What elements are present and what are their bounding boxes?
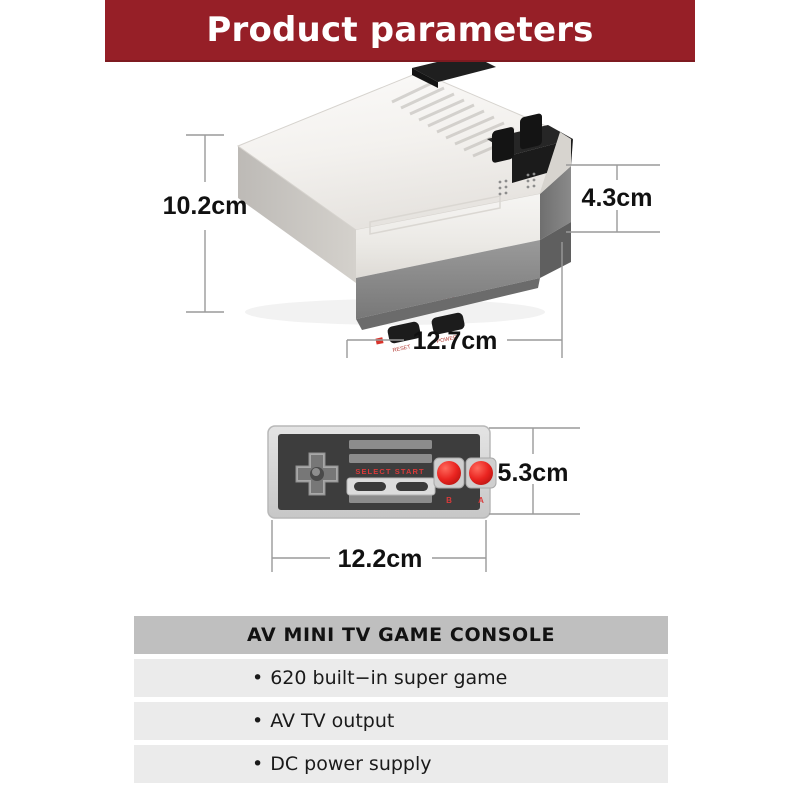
controller-select-button[interactable] [354,482,386,491]
bullet-icon-2: • [252,710,263,732]
spec-table-header-label: AV MINI TV GAME CONSOLE [247,624,555,646]
spec-row-3-text: •DC power supply [134,753,432,775]
dimension-console-height-label: 10.2cm [163,192,248,220]
console-illustration: ENTERTAINMENT SYSTEM RESET POWER [238,62,573,354]
spec-row-1-text: •620 built−in super game [134,667,507,689]
controller-start-button[interactable] [396,482,428,491]
page-header-banner: Product parameters [105,0,695,60]
console-reset-label: RESET [392,344,412,354]
dimension-controller-height-label: 5.3cm [498,459,569,487]
console-power-led [375,337,383,344]
controller-select-start-label: SELECT START [355,467,424,476]
controller-illustration: SELECT START [268,426,496,518]
spec-table-header-row: AV MINI TV GAME CONSOLE [134,616,668,654]
spec-row-3-value: DC power supply [270,753,431,775]
console-port-2 [520,113,542,150]
spec-row-1-value: 620 built−in super game [270,667,507,689]
controller-action-buttons[interactable] [434,458,464,488]
console-port-1 [492,126,514,163]
spec-row-1: •620 built−in super game [134,659,668,697]
button-b[interactable] [437,461,461,485]
product-diagram-svg: ENTERTAINMENT SYSTEM RESET POWER [0,62,800,592]
spec-row-2-text: •AV TV output [134,710,394,732]
spec-table: AV MINI TV GAME CONSOLE •620 built−in su… [134,616,668,788]
dimension-console-depth-label: 4.3cm [582,184,653,212]
dpad-center-highlight [312,468,320,476]
spec-row-2-value: AV TV output [270,710,394,732]
spec-row-3: •DC power supply [134,745,668,783]
dimension-controller-width-label: 12.2cm [338,545,423,573]
bullet-icon-3: • [252,753,263,775]
dimension-console-width-label: 12.7cm [413,327,498,355]
product-illustration-stage: ENTERTAINMENT SYSTEM RESET POWER [0,62,800,592]
spec-row-2: •AV TV output [134,702,668,740]
button-b-label: B [446,496,452,505]
button-a-label: A [478,496,484,505]
button-a[interactable] [469,461,493,485]
page-title: Product parameters [105,10,695,50]
bullet-icon-1: • [252,667,263,689]
dimension-console-height [186,135,224,312]
